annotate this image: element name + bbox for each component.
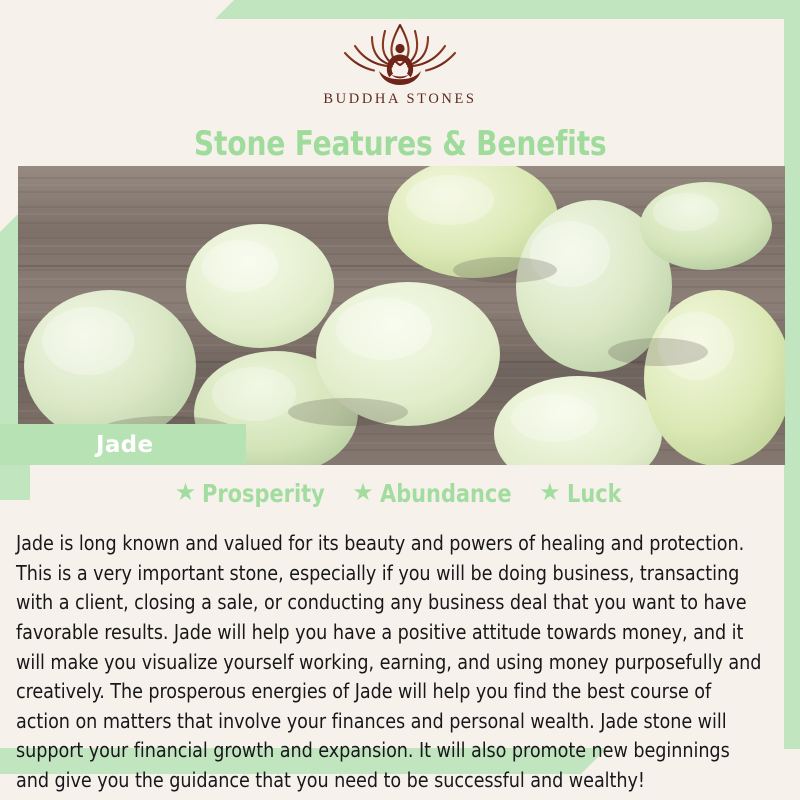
decor-band-top — [215, 0, 800, 19]
benefit-label: Prosperity — [202, 481, 325, 506]
stone-name-tag: Jade — [0, 424, 246, 465]
benefit-label: Abundance — [380, 481, 512, 506]
star-icon: ★ — [539, 481, 561, 505]
brand-logo: BUDDHA STONES — [0, 22, 800, 118]
stone-name-label: Jade — [96, 432, 153, 458]
stone-features-poster: BUDDHA STONES Stone Features & Benefits — [0, 0, 800, 800]
benefits-row: ★ Prosperity ★ Abundance ★ Luck — [0, 478, 800, 508]
benefit-item-2: ★ Abundance — [352, 481, 521, 506]
lotus-meditation-icon — [341, 22, 459, 88]
brand-wordmark: BUDDHA STONES — [323, 91, 476, 108]
stone-description: Jade is long known and valued for its be… — [16, 529, 763, 795]
page-title-text: Stone Features & Benefits — [194, 127, 607, 161]
star-icon: ★ — [175, 481, 197, 505]
benefit-label: Luck — [567, 481, 622, 506]
hero-photo — [18, 166, 785, 465]
star-icon: ★ — [352, 481, 374, 505]
benefit-item-3: ★ Luck — [539, 481, 625, 506]
page-title: Stone Features & Benefits — [0, 122, 800, 166]
benefit-item-1: ★ Prosperity — [175, 481, 335, 506]
